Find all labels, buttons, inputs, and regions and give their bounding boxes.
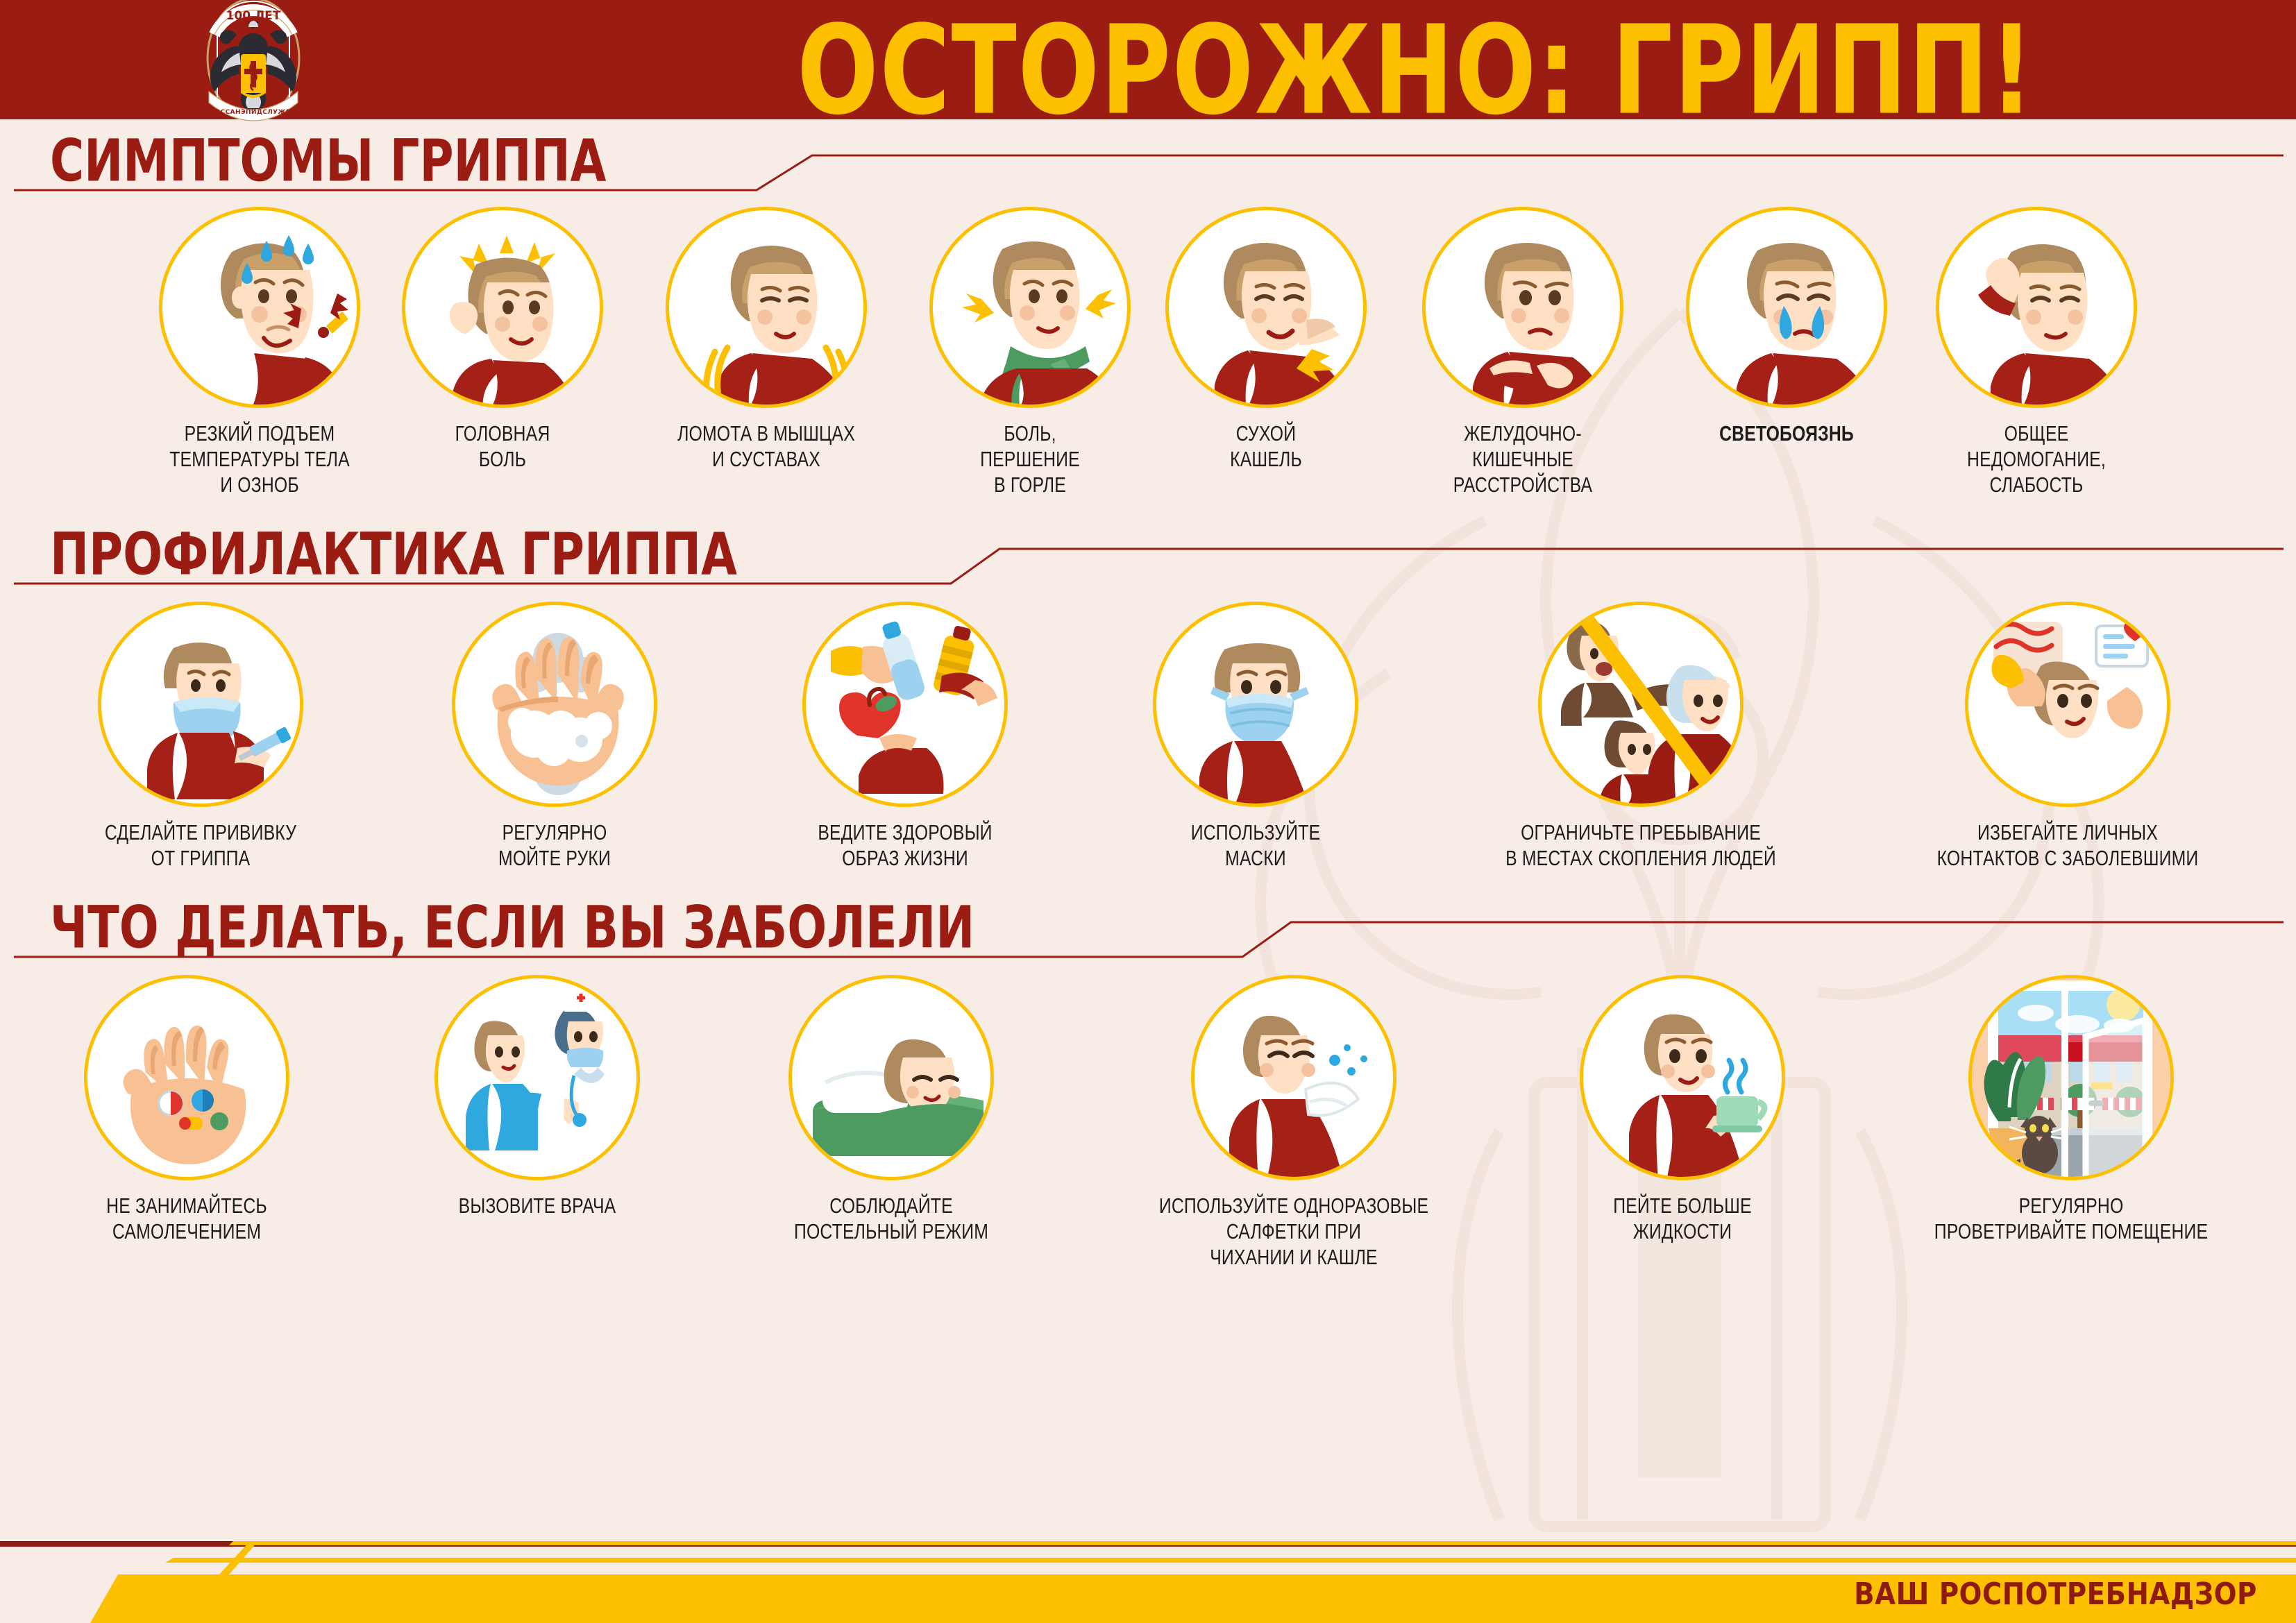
no-self-medication-icon [84,975,289,1180]
section-title: ЧТО ДЕЛАТЬ, ЕСЛИ ВЫ ЗАБОЛЕЛИ [50,889,974,966]
prevention-label: ОГРАНИЧЬТЕ ПРЕБЫВАНИЕ В МЕСТАХ СКОПЛЕНИЯ… [1494,819,1788,871]
avoid-contact-icon [1965,602,2170,807]
section-heading-symptoms: СИМПТОМЫ ГРИППА [0,125,2296,197]
symptom-item[interactable]: ЛОМОТА В МЫШЦАХ И СУСТАВАХ [621,207,912,472]
poster-header: 100 ЛЕТ [0,0,2296,119]
symptom-item[interactable]: СУХОЙ КАШЕЛЬ [1148,207,1384,472]
ventilate-room-icon [1968,975,2174,1180]
symptom-label: СУХОЙ КАШЕЛЬ [1172,420,1360,472]
symptom-label: РЕЗКИЙ ПОДЪЕМ ТЕМПЕРАТУРЫ ТЕЛА И ОЗНОБ [160,420,360,498]
disposable-tissue-icon [1191,975,1396,1180]
if-sick-label: СОБЛЮДАЙТЕ ПОСТЕЛЬНЫЙ РЕЖИМ [769,1193,1013,1244]
poster-footer: ВАШ РОСПОТРЕБНАДЗОР [0,1533,2296,1623]
general-weakness-icon [1936,207,2137,408]
poster-root: 100 ЛЕТ [0,0,2296,1623]
rospotrebnadzor-emblem: 100 ЛЕТ [184,0,323,126]
emblem-ribbon-text: ГОССАНЭПИДСЛУЖБА [210,109,296,116]
dry-cough-icon [1165,207,1367,408]
prevention-label: ВЕДИТЕ ЗДОРОВЫЙ ОБРАЗ ЖИЗНИ [786,819,1024,871]
symptom-label: ГОЛОВНАЯ БОЛЬ [408,420,597,472]
emblem-top-text: 100 ЛЕТ [226,9,281,23]
prevention-item[interactable]: ИСПОЛЬЗУЙТЕ МАСКИ [1117,602,1394,871]
symptoms-row: РЕЗКИЙ ПОДЪЕМ ТЕМПЕРАТУРЫ ТЕЛА И ОЗНОБ [0,207,2296,498]
symptom-item[interactable]: ОБЩЕЕ НЕДОМОГАНИЕ, СЛАБОСТЬ [1911,207,2161,498]
symptom-item[interactable]: БОЛЬ, ПЕРШЕНИЕ В ГОРЛЕ [912,207,1148,498]
symptom-label: ЖЕЛУДОЧНО- КИШЕЧНЫЕ РАССТРОЙСТВА [1412,420,1634,498]
if-sick-label: ПЕЙТЕ БОЛЬШЕ ЖИДКОСТИ [1571,1193,1793,1244]
section-heading-prevention: ПРОФИЛАКТИКА ГРИППА [0,518,2296,590]
if-sick-row: НЕ ЗАНИМАЙТЕСЬ САМОЛЕЧЕНИЕМ [0,975,2296,1270]
prevention-item[interactable]: ОГРАНИЧЬТЕ ПРЕБЫВАНИЕ В МЕСТАХ СКОПЛЕНИЯ… [1457,602,1825,871]
footer-label: ВАШ РОСПОТРЕБНАДЗОР [1854,1577,2257,1612]
symptom-item[interactable]: ЖЕЛУДОЧНО- КИШЕЧНЫЕ РАССТРОЙСТВА [1384,207,1662,498]
prevention-label: ИСПОЛЬЗУЙТЕ МАСКИ [1145,819,1367,871]
muscle-ache-icon [666,207,867,408]
sore-throat-icon [929,207,1131,408]
if-sick-label: ВЫЗОВИТЕ ВРАЧА [426,1193,648,1218]
vaccination-icon [98,602,303,807]
if-sick-item[interactable]: НЕ ЗАНИМАЙТЕСЬ САМОЛЕЧЕНИЕМ [37,975,336,1244]
face-mask-icon [1153,602,1358,807]
photophobia-icon [1686,207,1887,408]
symptom-item[interactable]: ГОЛОВНАЯ БОЛЬ [385,207,621,472]
section-title: СИМПТОМЫ ГРИППА [50,122,606,199]
symptom-item[interactable]: РЕЗКИЙ ПОДЪЕМ ТЕМПЕРАТУРЫ ТЕЛА И ОЗНОБ [135,207,385,498]
prevention-label: РЕГУЛЯРНО МОЙТЕ РУКИ [444,819,666,871]
if-sick-item[interactable]: ВЫЗОВИТЕ ВРАЧА [398,975,676,1218]
if-sick-item[interactable]: ПЕЙТЕ БОЛЬШЕ ЖИДКОСТИ [1544,975,1821,1244]
symptom-label: ОБЩЕЕ НЕДОМОГАНИЕ, СЛАБОСТЬ [1936,420,2136,498]
if-sick-label: НЕ ЗАНИМАЙТЕСЬ САМОЛЕЧЕНИЕМ [67,1193,306,1244]
prevention-item[interactable]: РЕГУЛЯРНО МОЙТЕ РУКИ [416,602,693,871]
prevention-item[interactable]: ИЗБЕГАЙТЕ ЛИЧНЫХ КОНТАКТОВ С ЗАБОЛЕВШИМИ [1887,602,2248,871]
if-sick-item[interactable]: РЕГУЛЯРНО ПРОВЕТРИВАЙТЕ ПОМЕЩЕНИЕ [1884,975,2259,1244]
section-heading-if-sick: ЧТО ДЕЛАТЬ, ЕСЛИ ВЫ ЗАБОЛЕЛИ [0,892,2296,964]
symptom-item[interactable]: СВЕТОБОЯЗНЬ [1662,207,1911,446]
drink-fluids-icon [1580,975,1785,1180]
prevention-row: СДЕЛАЙТЕ ПРИВИВКУ ОТ ГРИППА [0,602,2296,871]
page-title: ОСТОРОЖНО: ГРИПП! [650,6,2182,137]
section-title: ПРОФИЛАКТИКА ГРИППА [50,516,737,593]
symptom-label: СВЕТОБОЯЗНЬ [1687,420,1886,446]
wash-hands-icon [452,602,657,807]
healthy-lifestyle-icon [802,602,1008,807]
thermometer-fever-icon [159,207,360,408]
prevention-label: ИЗБЕГАЙТЕ ЛИЧНЫХ КОНТАКТОВ С ЗАБОЛЕВШИМИ [1923,819,2212,871]
if-sick-label: РЕГУЛЯРНО ПРОВЕТРИВАЙТЕ ПОМЕЩЕНИЕ [1921,1193,2221,1244]
if-sick-item[interactable]: СОБЛЮДАЙТЕ ПОСТЕЛЬНЫЙ РЕЖИМ [738,975,1044,1244]
call-doctor-icon [434,975,640,1180]
bed-rest-icon [788,975,994,1180]
symptom-label: ЛОМОТА В МЫШЦАХ И СУСТАВАХ [650,420,883,472]
symptom-label: БОЛЬ, ПЕРШЕНИЕ В ГОРЛЕ [936,420,1124,498]
prevention-item[interactable]: ВЕДИТЕ ЗДОРОВЫЙ ОБРАЗ ЖИЗНИ [756,602,1054,871]
prevention-label: СДЕЛАЙТЕ ПРИВИВКУ ОТ ГРИППА [78,819,323,871]
headache-icon [402,207,603,408]
avoid-crowds-icon [1538,602,1744,807]
if-sick-item[interactable]: ИСПОЛЬЗУЙТЕ ОДНОРАЗОВЫЕ САЛФЕТКИ ПРИ ЧИХ… [1106,975,1481,1270]
prevention-item[interactable]: СДЕЛАЙТЕ ПРИВИВКУ ОТ ГРИППА [48,602,353,871]
stomach-upset-icon [1422,207,1623,408]
if-sick-label: ИСПОЛЬЗУЙТЕ ОДНОРАЗОВЫЕ САЛФЕТКИ ПРИ ЧИХ… [1144,1193,1444,1270]
